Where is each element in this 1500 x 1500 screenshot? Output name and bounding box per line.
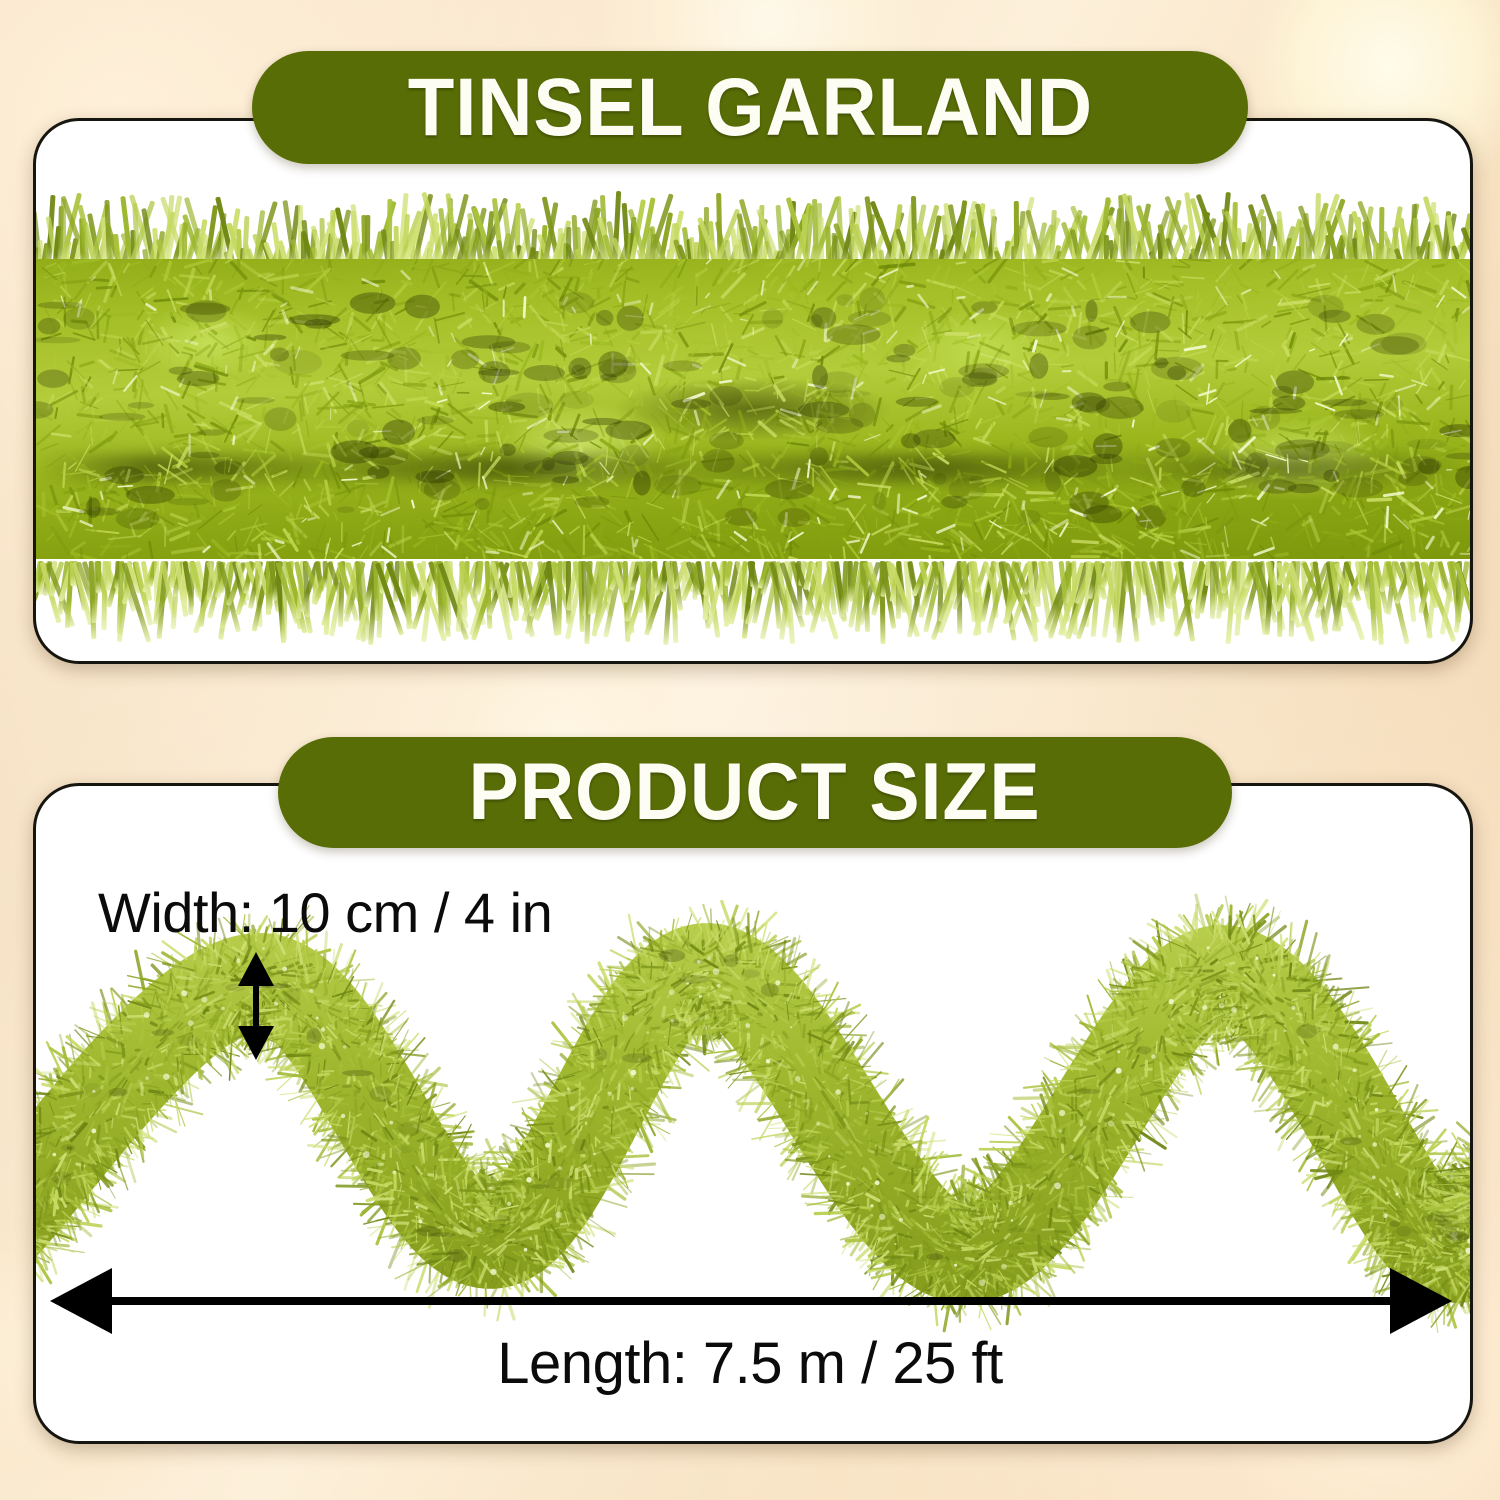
- banner-size-text: PRODUCT SIZE: [469, 746, 1041, 839]
- banner-tinsel-garland: TINSEL GARLAND: [252, 51, 1248, 164]
- width-label: Width: 10 cm / 4 in: [98, 880, 552, 945]
- tinsel-fringe-bottom: [36, 561, 1470, 647]
- banner-title-text: TINSEL GARLAND: [407, 61, 1092, 155]
- tinsel-band-image: [36, 189, 1470, 629]
- banner-product-size: PRODUCT SIZE: [278, 737, 1232, 848]
- length-label: Length: 7.5 m / 25 ft: [0, 1330, 1500, 1397]
- tinsel-garland-panel: [33, 118, 1473, 664]
- length-dimension-arrow: [50, 1268, 1452, 1334]
- tinsel-band-core: [36, 259, 1470, 559]
- tinsel-strand-overlay: [36, 259, 1470, 559]
- width-dimension-arrow: [232, 952, 280, 1060]
